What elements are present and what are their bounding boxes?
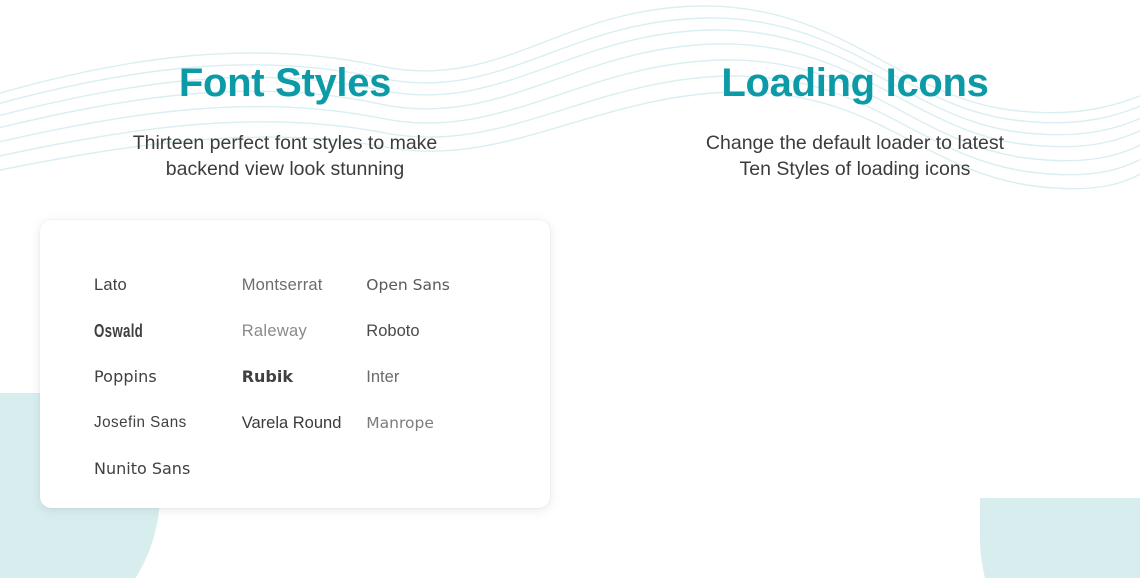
- subtitle-line-2: backend view look stunning: [166, 158, 405, 180]
- subtitle-line-1: Thirteen perfect font styles to make: [133, 132, 438, 154]
- font-item-oswald[interactable]: Oswald: [94, 308, 200, 354]
- page-title-font-styles: Font Styles: [0, 60, 570, 106]
- font-item-spacer-2: [242, 446, 367, 492]
- font-column-2: Montserrat Raleway Rubik Varela Round: [242, 262, 367, 492]
- font-column-1: Lato Oswald Poppins Josefin Sans Nunito …: [94, 262, 242, 492]
- font-item-manrope[interactable]: Manrope: [366, 400, 514, 446]
- font-item-montserrat[interactable]: Montserrat: [242, 262, 367, 308]
- font-item-lato[interactable]: Lato: [94, 262, 242, 308]
- page-title-loading-icons: Loading Icons: [570, 60, 1140, 106]
- font-styles-card: Lato Oswald Poppins Josefin Sans Nunito …: [40, 220, 550, 508]
- panel-loading-icons: Loading Icons Change the default loader …: [570, 0, 1140, 578]
- font-column-3: Open Sans Roboto Inter Manrope: [366, 262, 514, 492]
- font-item-open-sans[interactable]: Open Sans: [366, 262, 514, 308]
- font-item-inter[interactable]: Inter: [366, 354, 514, 400]
- subtitle-line-1: Change the default loader to latest: [706, 132, 1004, 154]
- panel-font-styles: Font Styles Thirteen perfect font styles…: [0, 0, 570, 578]
- font-item-nunito-sans[interactable]: Nunito Sans: [94, 446, 242, 492]
- subtitle-line-2: Ten Styles of loading icons: [740, 158, 971, 180]
- font-item-spacer-3: [366, 446, 514, 492]
- page-root: Font Styles Thirteen perfect font styles…: [0, 0, 1140, 578]
- font-item-roboto[interactable]: Roboto: [366, 308, 514, 354]
- subtitle-font-styles: Thirteen perfect font styles to make bac…: [0, 130, 570, 183]
- font-item-raleway[interactable]: Raleway: [242, 308, 367, 354]
- font-list-grid: Lato Oswald Poppins Josefin Sans Nunito …: [94, 262, 514, 492]
- font-item-rubik[interactable]: Rubik: [242, 354, 367, 400]
- font-item-josefin-sans[interactable]: Josefin Sans: [94, 400, 234, 446]
- font-item-varela-round[interactable]: Varela Round: [242, 400, 367, 446]
- font-item-poppins[interactable]: Poppins: [94, 354, 242, 400]
- subtitle-loading-icons: Change the default loader to latest Ten …: [570, 130, 1140, 183]
